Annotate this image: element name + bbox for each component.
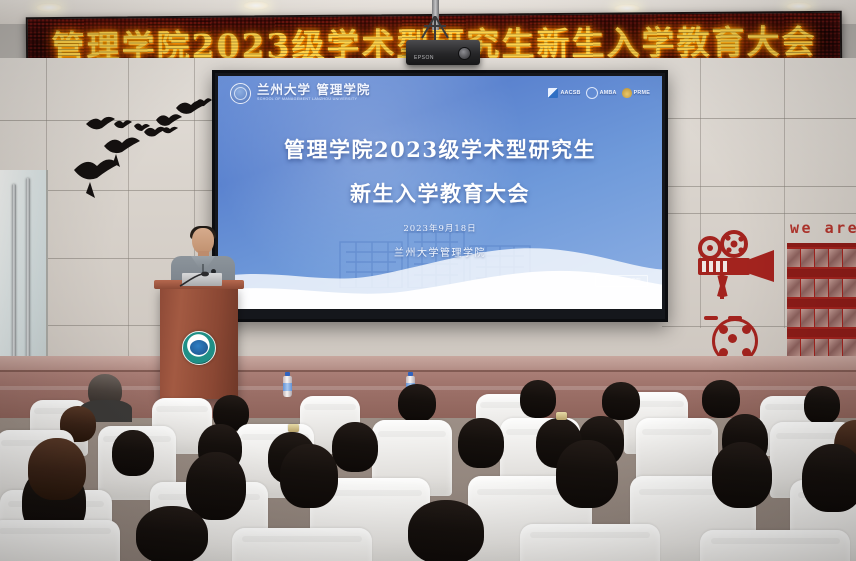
accreditation-prme: PRME [622,88,650,98]
audience-person-head [28,438,86,500]
audience-chair [232,528,372,561]
audience-chair [520,524,660,561]
university-name-cn: 兰州大学 管理学院 [257,84,370,97]
audience-person-head [702,380,740,418]
accreditation-label: AACSB [560,90,580,96]
accreditation-amba: AMBA [586,87,617,99]
audience-person-head [458,418,504,468]
amba-icon [586,87,598,99]
film-projector-decal-icon [686,228,776,326]
door-handle-icon[interactable] [26,178,30,364]
audience-person-head [398,384,436,422]
audience-person-head [280,444,338,508]
audience-person-head [602,382,640,420]
university-seal-icon [230,83,251,104]
photo-filmstrip-row [787,273,856,303]
audience-person-head [804,386,840,424]
audience-person-head [332,422,378,472]
audience-chair [0,520,120,561]
accreditation-label: AMBA [600,90,617,96]
projector-lens-icon [458,47,471,60]
audience-person-head [712,442,772,508]
microphone-icon [178,271,212,287]
wall-seam [662,118,856,119]
ceiling-downlight [786,2,812,11]
accreditation-label: PRME [634,90,650,96]
slide-organizer: 兰州大学管理学院 [218,244,662,259]
prme-icon [622,88,632,98]
audience-person-head [112,430,154,476]
accreditation-logos: AACSB AMBA PRME [548,87,650,99]
projector-model-label: EPSON [414,55,434,61]
ceiling-downlight [243,1,269,10]
slide-title-line1: 管理学院2023级学术型研究生 [218,134,662,164]
door-handle-icon[interactable] [12,184,16,360]
bottle-label [283,383,292,391]
slide-header: 兰州大学 管理学院 SCHOOL OF MANAGEMENT LANZHOU U… [218,76,662,110]
photo-filmstrip-row [787,303,856,333]
podium-university-emblem [182,331,216,365]
hair-clip [556,412,567,420]
slide-title: 管理学院2023级学术型研究生 新生入学教育大会 [218,134,662,208]
lecture-hall-photo: 管理学院2023级学术型研究生新生入学教育大会 [0,0,856,561]
slide-title-line2: 新生入学教育大会 [218,178,662,208]
audience-person-head [556,440,618,508]
university-name-en: SCHOOL OF MANAGEMENT LANZHOU UNIVERSITY [257,98,370,102]
water-bottle[interactable] [283,372,292,397]
projection-screen: 兰州大学 管理学院 SCHOOL OF MANAGEMENT LANZHOU U… [212,70,668,322]
bird-decal-group [44,84,224,224]
stage-edge [0,370,856,372]
presentation-slide: 兰州大学 管理学院 SCHOOL OF MANAGEMENT LANZHOU U… [218,76,662,309]
university-logo: 兰州大学 管理学院 SCHOOL OF MANAGEMENT LANZHOU U… [230,83,370,104]
wall-seam [662,186,856,187]
audience-chair [700,530,850,561]
audience-person-head [408,500,484,561]
glass-door[interactable] [0,170,48,385]
slide-date: 2023年9月18日 [218,222,662,234]
audience-person-head [186,452,246,520]
ceiling-projector: EPSON [406,40,480,65]
slide-corner-tag: 兰州大学管理学院 [595,275,648,287]
accreditation-aacsb: AACSB [548,88,580,98]
wall-seam [784,58,785,328]
audience-person-head [802,444,856,512]
bird-silhouettes-icon [44,84,224,224]
ceiling-downlight [36,3,62,12]
photo-filmstrip-row [787,243,856,273]
aacsb-icon [548,88,558,98]
hair-clip [288,424,299,432]
podium [160,287,238,399]
projector-mount-bracket [418,16,452,42]
wall-seam [662,213,856,214]
we-are-family-wall-text: we are fa [790,219,856,237]
audience-person-head [136,506,208,561]
audience-person-head [520,380,556,418]
